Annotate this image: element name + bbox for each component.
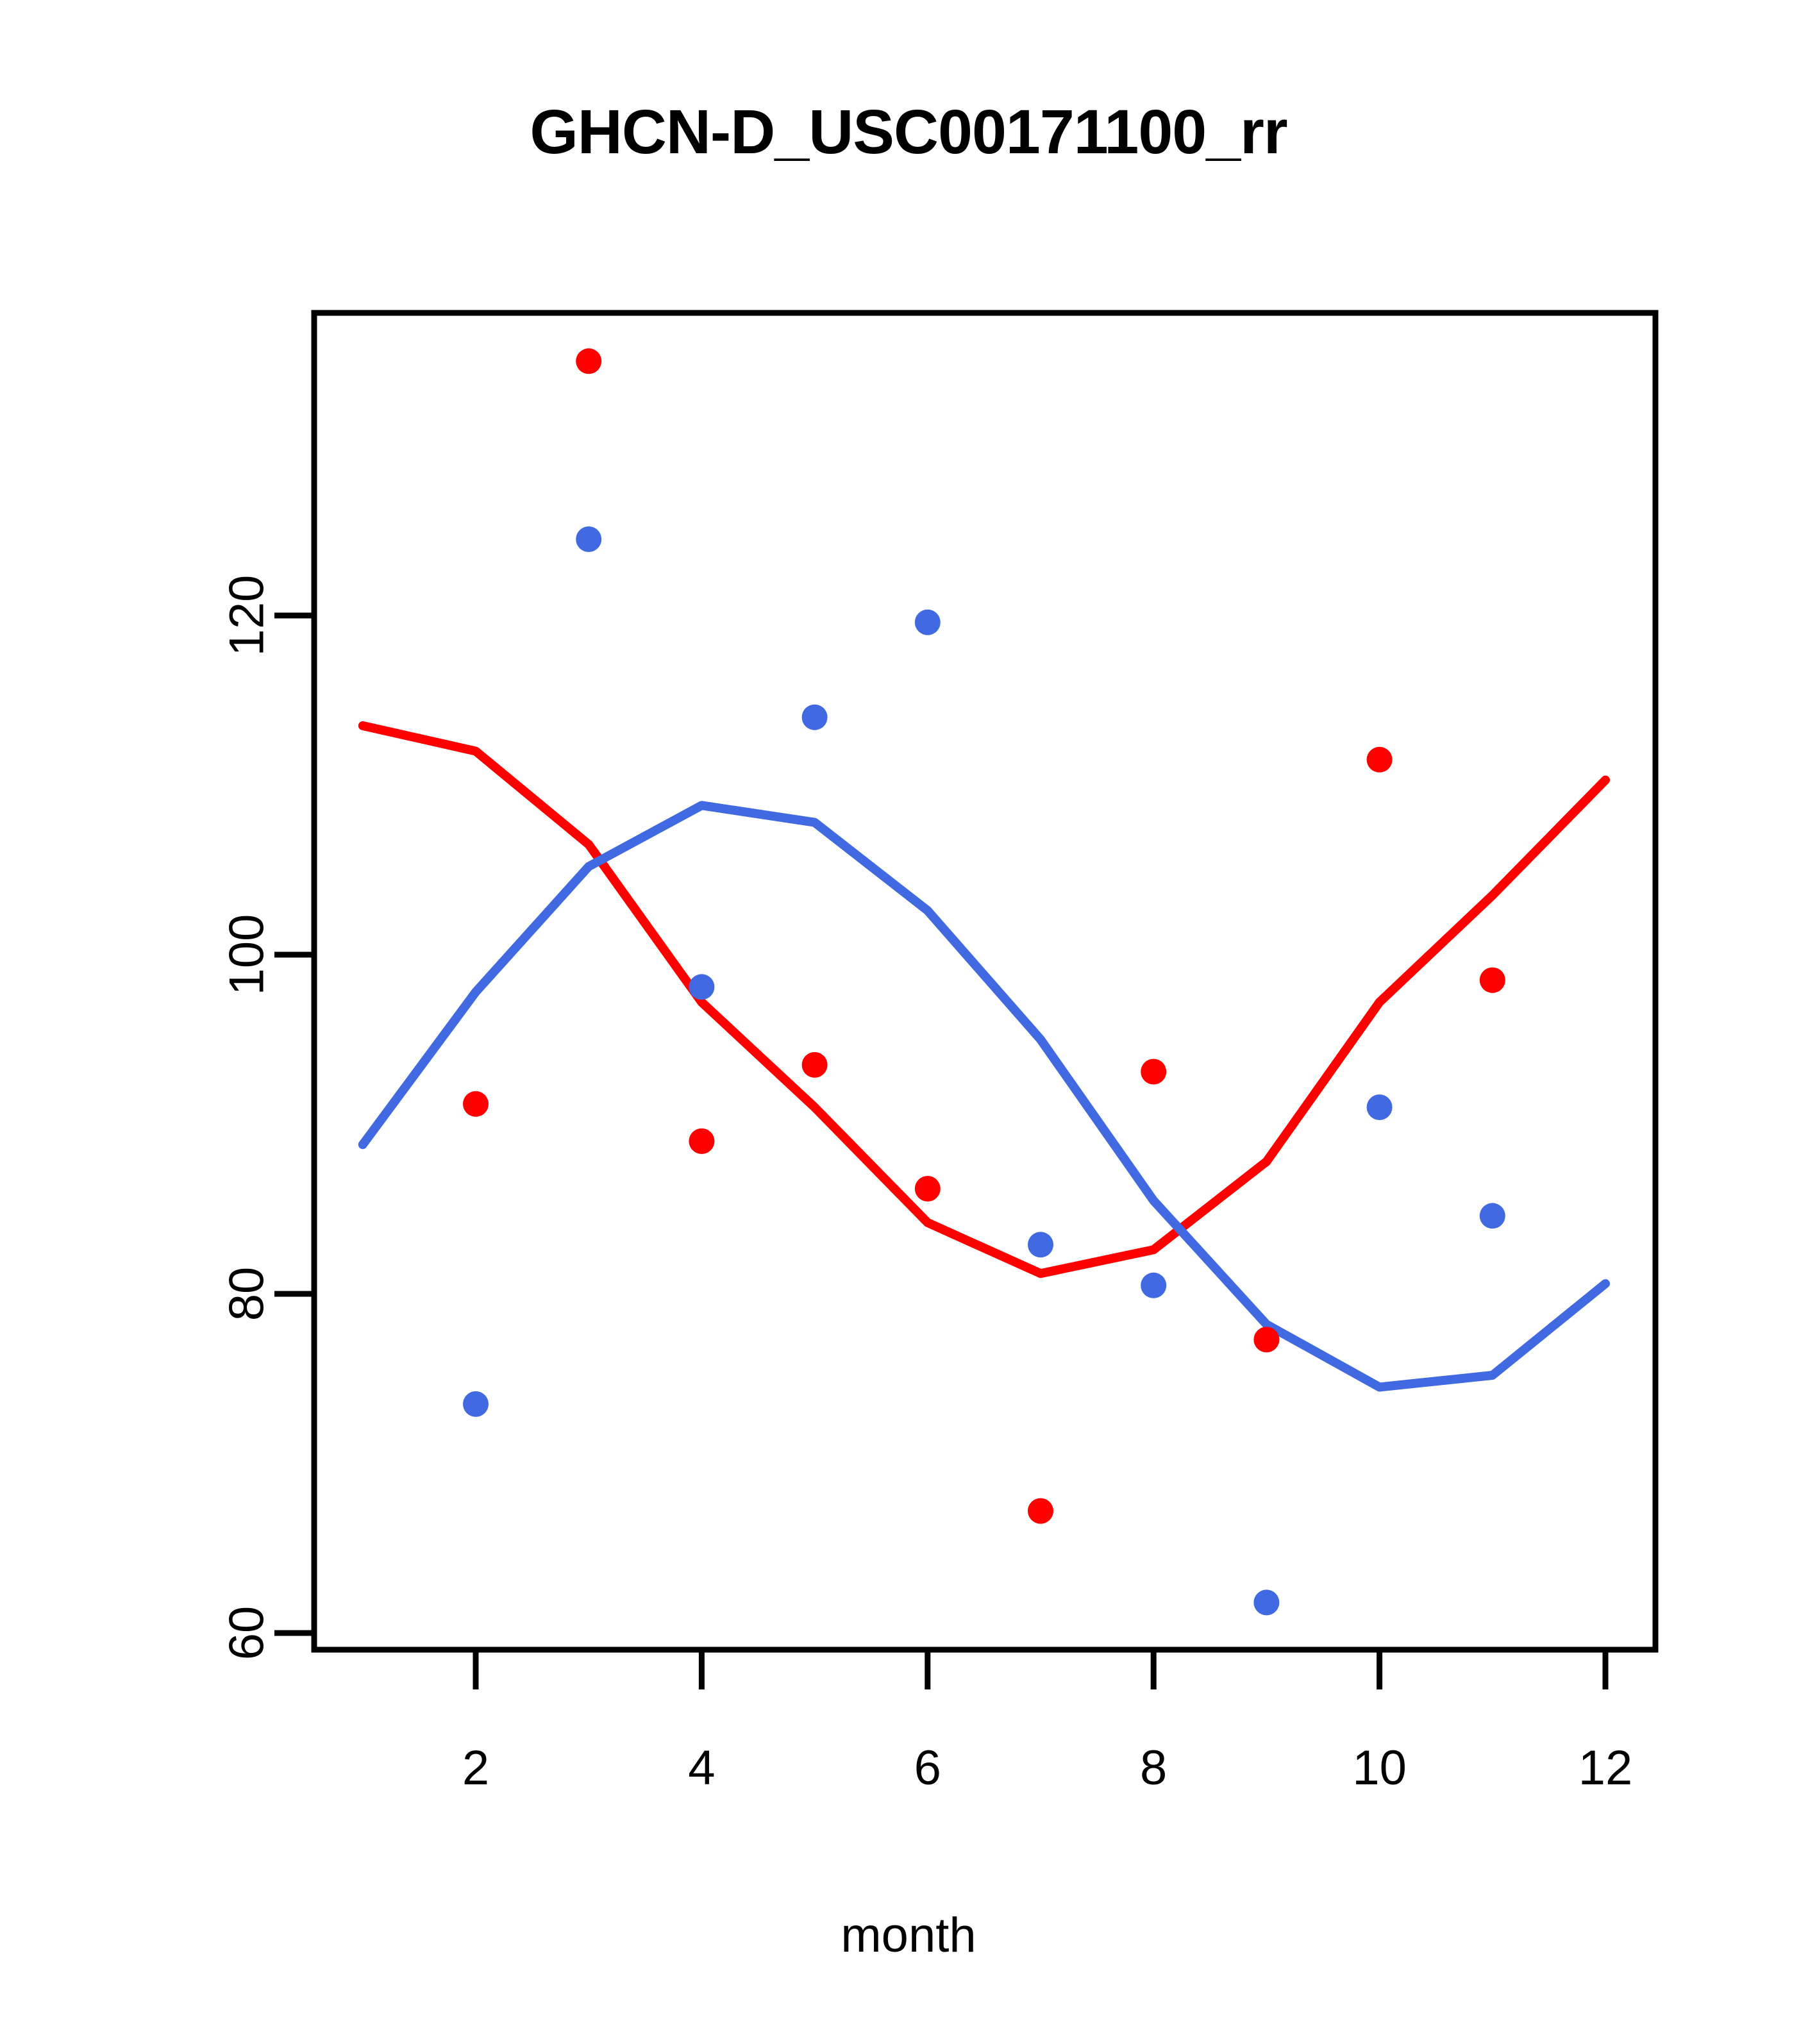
x-axis-tick-label: 4 (688, 1741, 715, 1795)
data-point-blue-points (576, 526, 601, 552)
axis-group (274, 313, 1655, 1689)
data-point-red-points (1367, 747, 1393, 773)
data-point-blue-points (463, 1391, 489, 1417)
data-point-red-points (576, 348, 601, 374)
x-axis-label: month (0, 1907, 1817, 1963)
plot-canvas: 608010012024681012 (0, 0, 1817, 2044)
data-point-red-points (1253, 1327, 1279, 1352)
y-axis-tick-label: 80 (220, 1267, 274, 1321)
series-group (363, 348, 1605, 1615)
series-line-blue-line (363, 805, 1605, 1387)
data-point-red-points (1028, 1498, 1053, 1524)
data-point-red-points (915, 1176, 941, 1202)
x-axis-tick-label: 12 (1578, 1741, 1633, 1795)
data-point-red-points (1141, 1059, 1166, 1085)
data-point-blue-points (802, 705, 828, 730)
data-point-red-points (689, 1128, 714, 1154)
data-point-red-points (802, 1052, 828, 1078)
x-axis-tick-label: 8 (1140, 1741, 1167, 1795)
data-point-blue-points (689, 974, 714, 1000)
x-axis-tick-label: 10 (1352, 1741, 1407, 1795)
data-point-red-points (1480, 968, 1505, 993)
data-point-blue-points (915, 610, 941, 635)
x-axis-tick-label: 6 (914, 1741, 941, 1795)
x-axis-tick-label: 2 (462, 1741, 489, 1795)
data-point-blue-points (1480, 1203, 1505, 1228)
y-axis-tick-label: 120 (220, 575, 274, 657)
data-point-red-points (463, 1091, 489, 1117)
series-line-red-line (363, 726, 1605, 1273)
chart-figure: GHCN-D_USC00171100_rr 608010012024681012… (0, 0, 1817, 2044)
data-point-blue-points (1253, 1589, 1279, 1615)
data-point-blue-points (1367, 1094, 1393, 1120)
data-point-blue-points (1028, 1232, 1053, 1257)
y-axis-tick-label: 100 (220, 914, 274, 996)
data-point-blue-points (1141, 1273, 1166, 1298)
y-axis-tick-label: 60 (220, 1606, 274, 1661)
